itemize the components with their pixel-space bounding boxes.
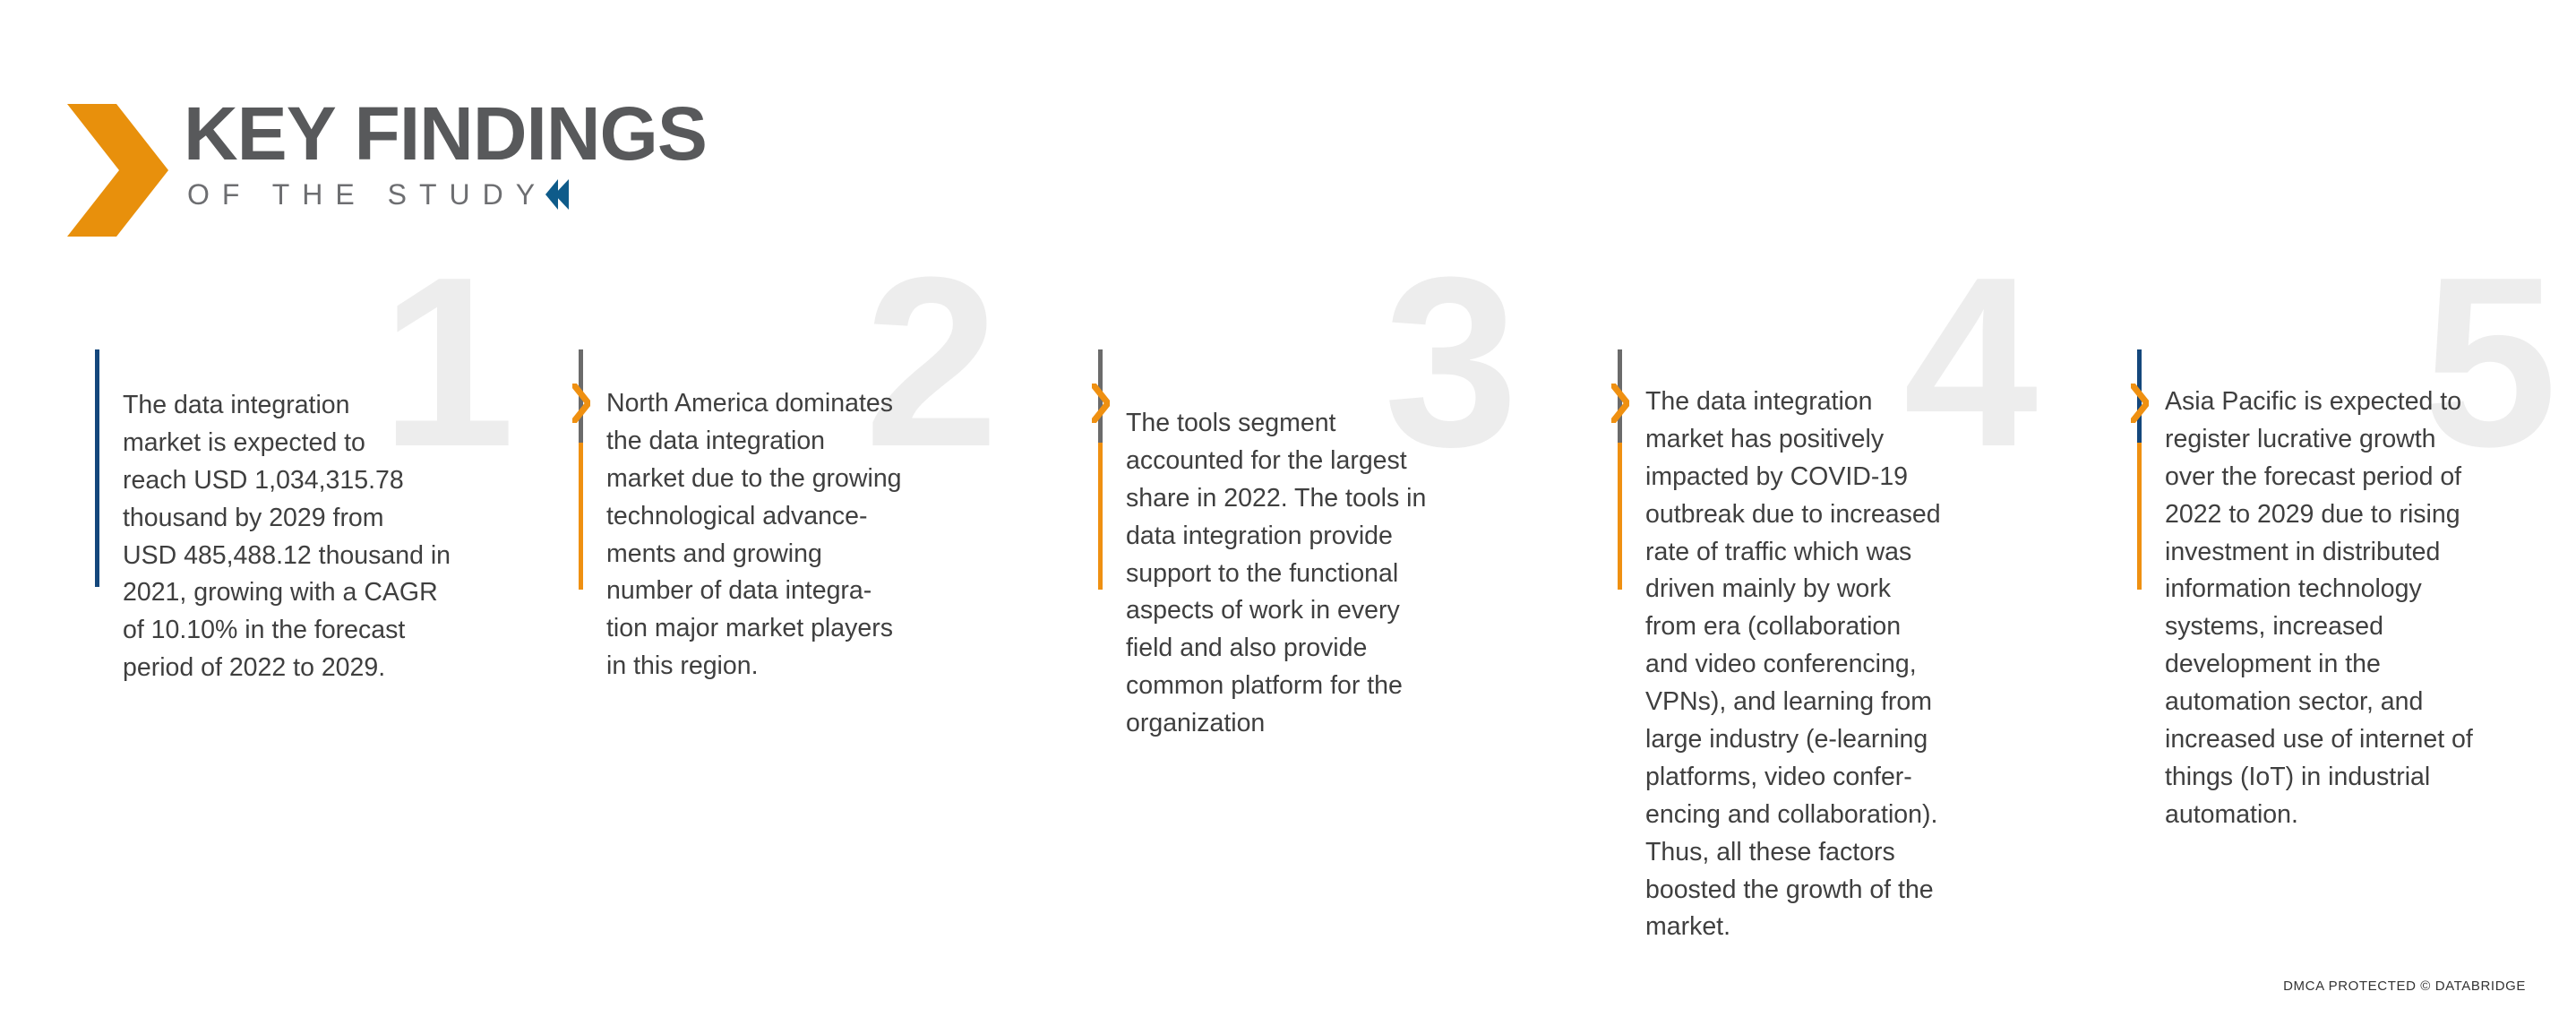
finding-text-1: The data integration market is expected …	[123, 387, 529, 687]
infographic-canvas: KEY FINDINGS OF THE STUDY 1 Th	[0, 0, 2576, 1026]
chevron-left-icon	[545, 179, 571, 210]
page-header: KEY FINDINGS OF THE STUDY	[67, 99, 707, 237]
chevron-marker-icon-2	[572, 384, 590, 427]
finding-text-3: The tools segment accounted for the larg…	[1126, 405, 1573, 743]
chevron-marker-icon-3	[1092, 384, 1110, 427]
header-text-block: KEY FINDINGS OF THE STUDY	[184, 99, 707, 211]
rule-segment-bottom-4	[1618, 443, 1622, 590]
chevron-marker-icon-4	[1611, 384, 1629, 427]
column-body-1: The data integration market is expected …	[108, 349, 529, 687]
page-title: KEY FINDINGS	[184, 99, 707, 169]
rule-segment-bottom-2	[579, 443, 583, 590]
finding-text-5: Asia Pacific is expected to register luc…	[2165, 384, 2576, 834]
header-subtitle-row: OF THE STUDY	[187, 178, 707, 211]
finding-text-4: The data integration market has positive…	[1645, 384, 2092, 946]
page-subtitle: OF THE STUDY	[187, 178, 547, 211]
dmca-copyright-notice: DMCA PROTECTED © DATABRIDGE	[2283, 979, 2526, 994]
finding-column-5: 5 Asia Pacific is expected to register l…	[2127, 349, 2576, 946]
finding-column-1: 1 The data integration market is expecte…	[85, 349, 533, 946]
chevron-marker-icon-5	[2131, 384, 2149, 427]
rule-segment-bottom-3	[1098, 443, 1103, 590]
column-body-3: The tools segment accounted for the larg…	[1112, 349, 1573, 743]
column-body-4: The data integration market has positive…	[1631, 349, 2092, 946]
column-body-2: North America dominates the data integra…	[592, 349, 1053, 685]
column-body-5: Asia Pacific is expected to register luc…	[2151, 349, 2576, 834]
finding-column-2: 2 North America dominates the data integ…	[569, 349, 1057, 946]
rule-segment-bottom-1	[95, 349, 99, 587]
finding-column-3: 3 The tools segment accounted for the la…	[1088, 349, 1576, 946]
rule-segment-bottom-5	[2137, 443, 2142, 590]
finding-column-4: 4 The data integration market has positi…	[1608, 349, 2096, 946]
finding-text-2: North America dominates the data integra…	[606, 385, 1053, 685]
chevron-right-arrow-icon	[67, 104, 173, 237]
findings-columns: 1 The data integration market is expecte…	[0, 349, 2576, 946]
